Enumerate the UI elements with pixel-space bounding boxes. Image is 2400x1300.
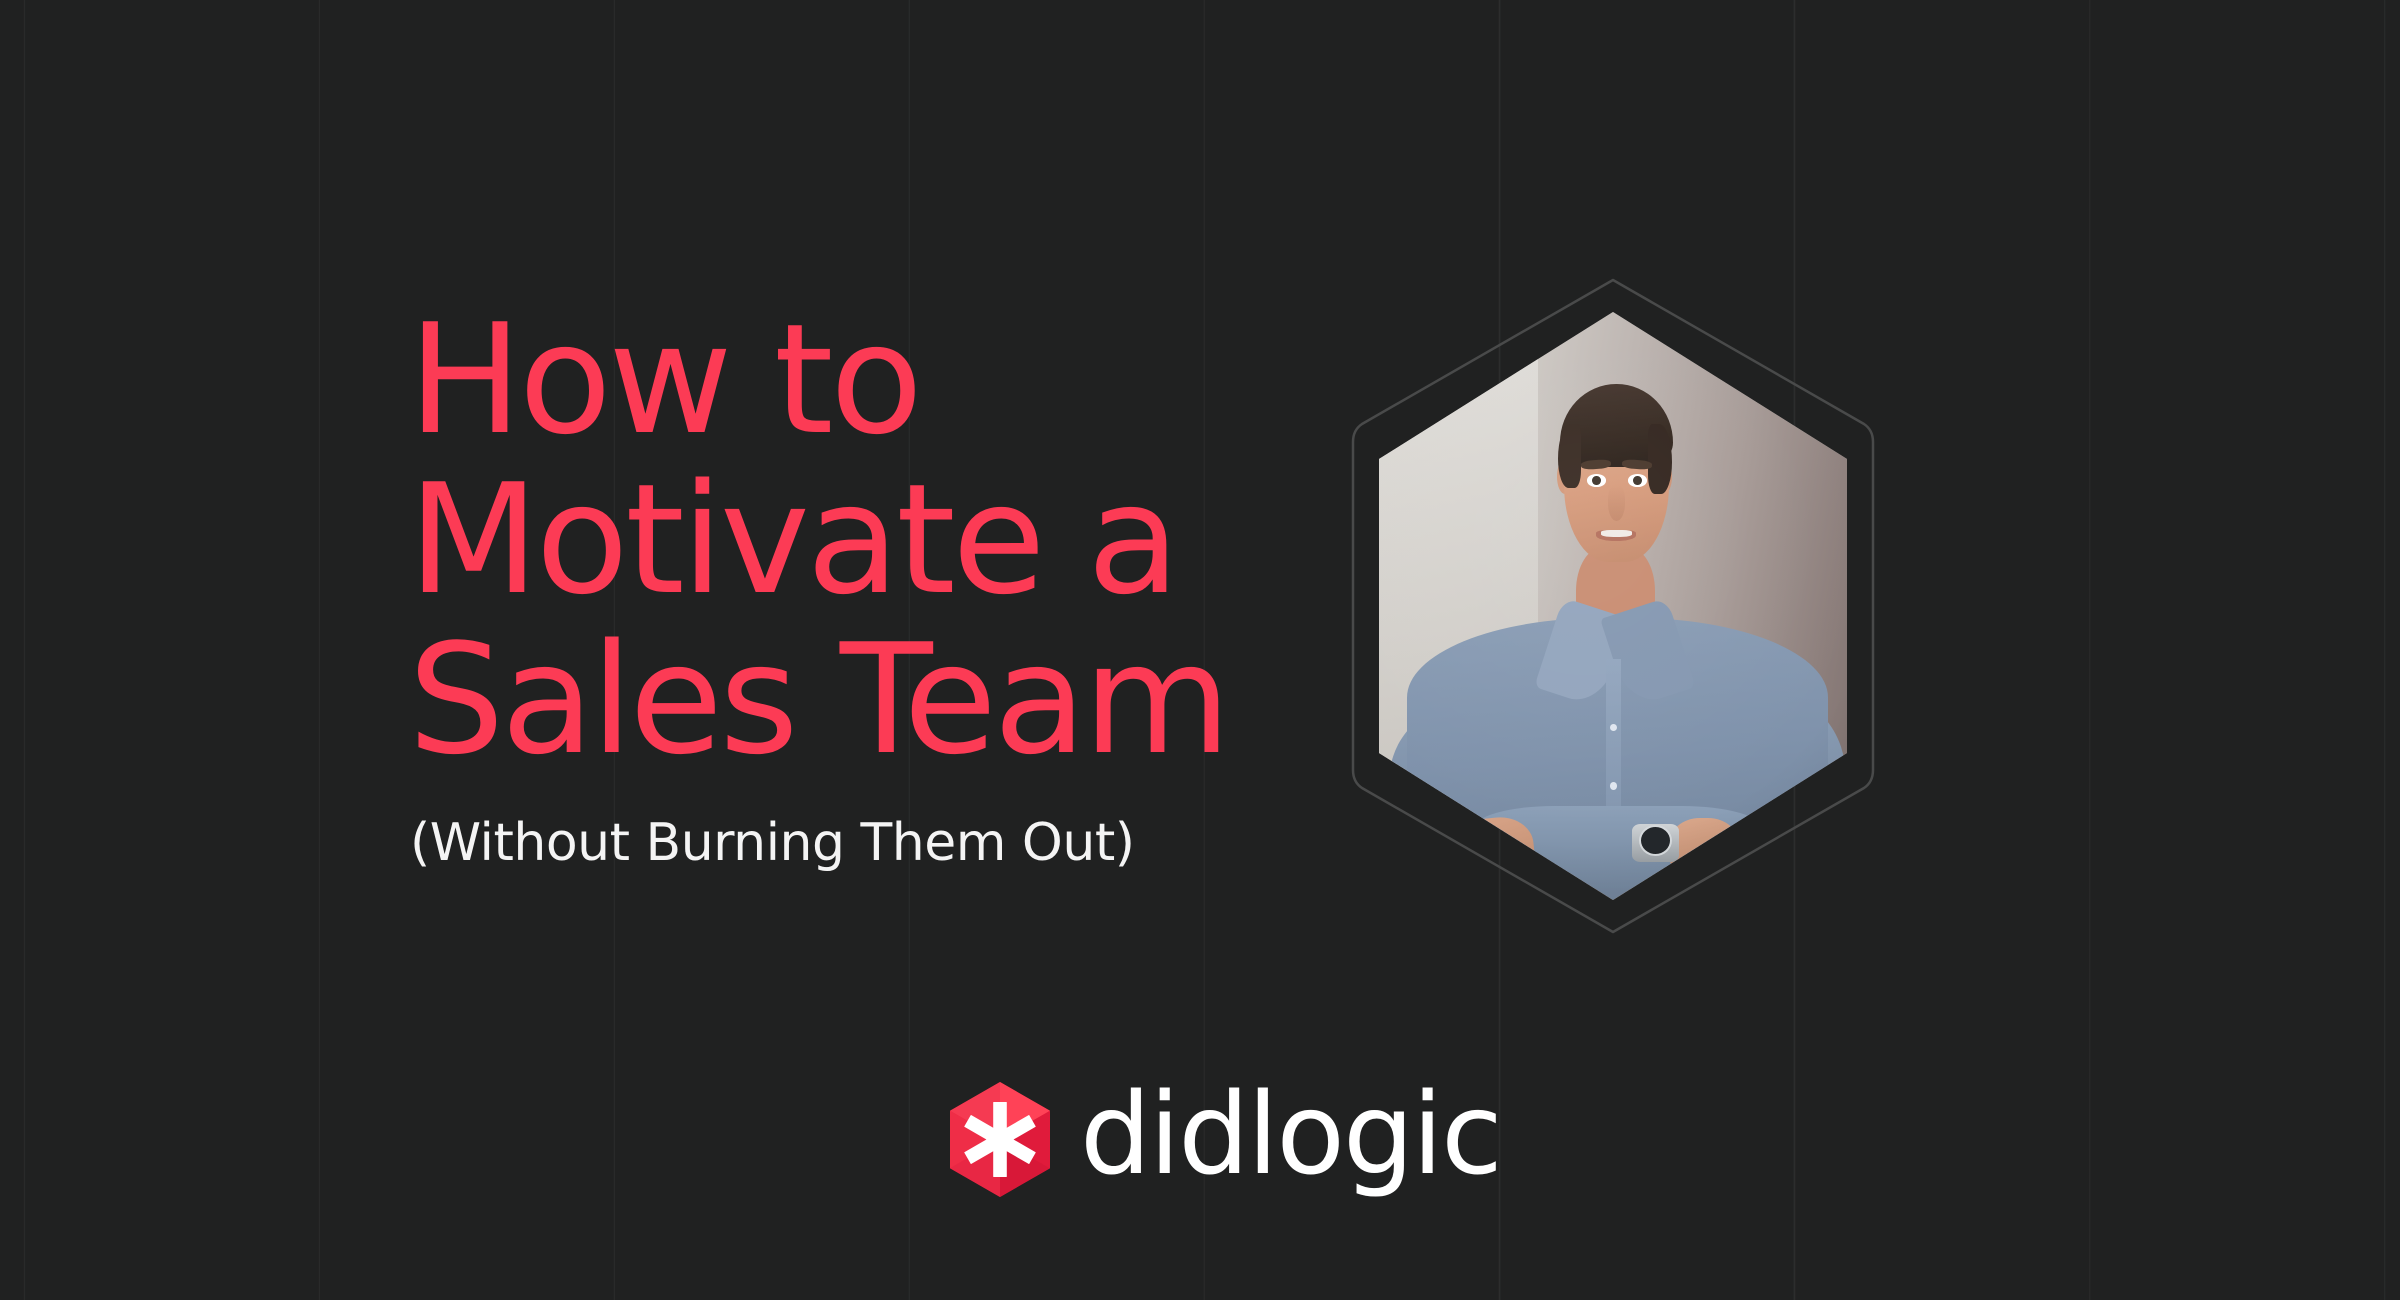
headline-line-3: Sales Team bbox=[408, 620, 1348, 780]
didlogic-hexagon-asterisk-icon bbox=[950, 1082, 1050, 1197]
subtitle: (Without Burning Them Out) bbox=[410, 813, 1135, 873]
headline-block: How to Motivate a Sales Team (Without Bu… bbox=[408, 300, 1348, 780]
headline-line-1: How to bbox=[408, 300, 1348, 460]
cover-canvas: How to Motivate a Sales Team (Without Bu… bbox=[0, 0, 2400, 1300]
didlogic-logo[interactable]: didlogic bbox=[950, 1080, 1501, 1198]
headline-line-2: Motivate a bbox=[408, 460, 1348, 620]
didlogic-wordmark: didlogic bbox=[1080, 1079, 1501, 1191]
portrait-hexagon bbox=[1347, 272, 1879, 940]
